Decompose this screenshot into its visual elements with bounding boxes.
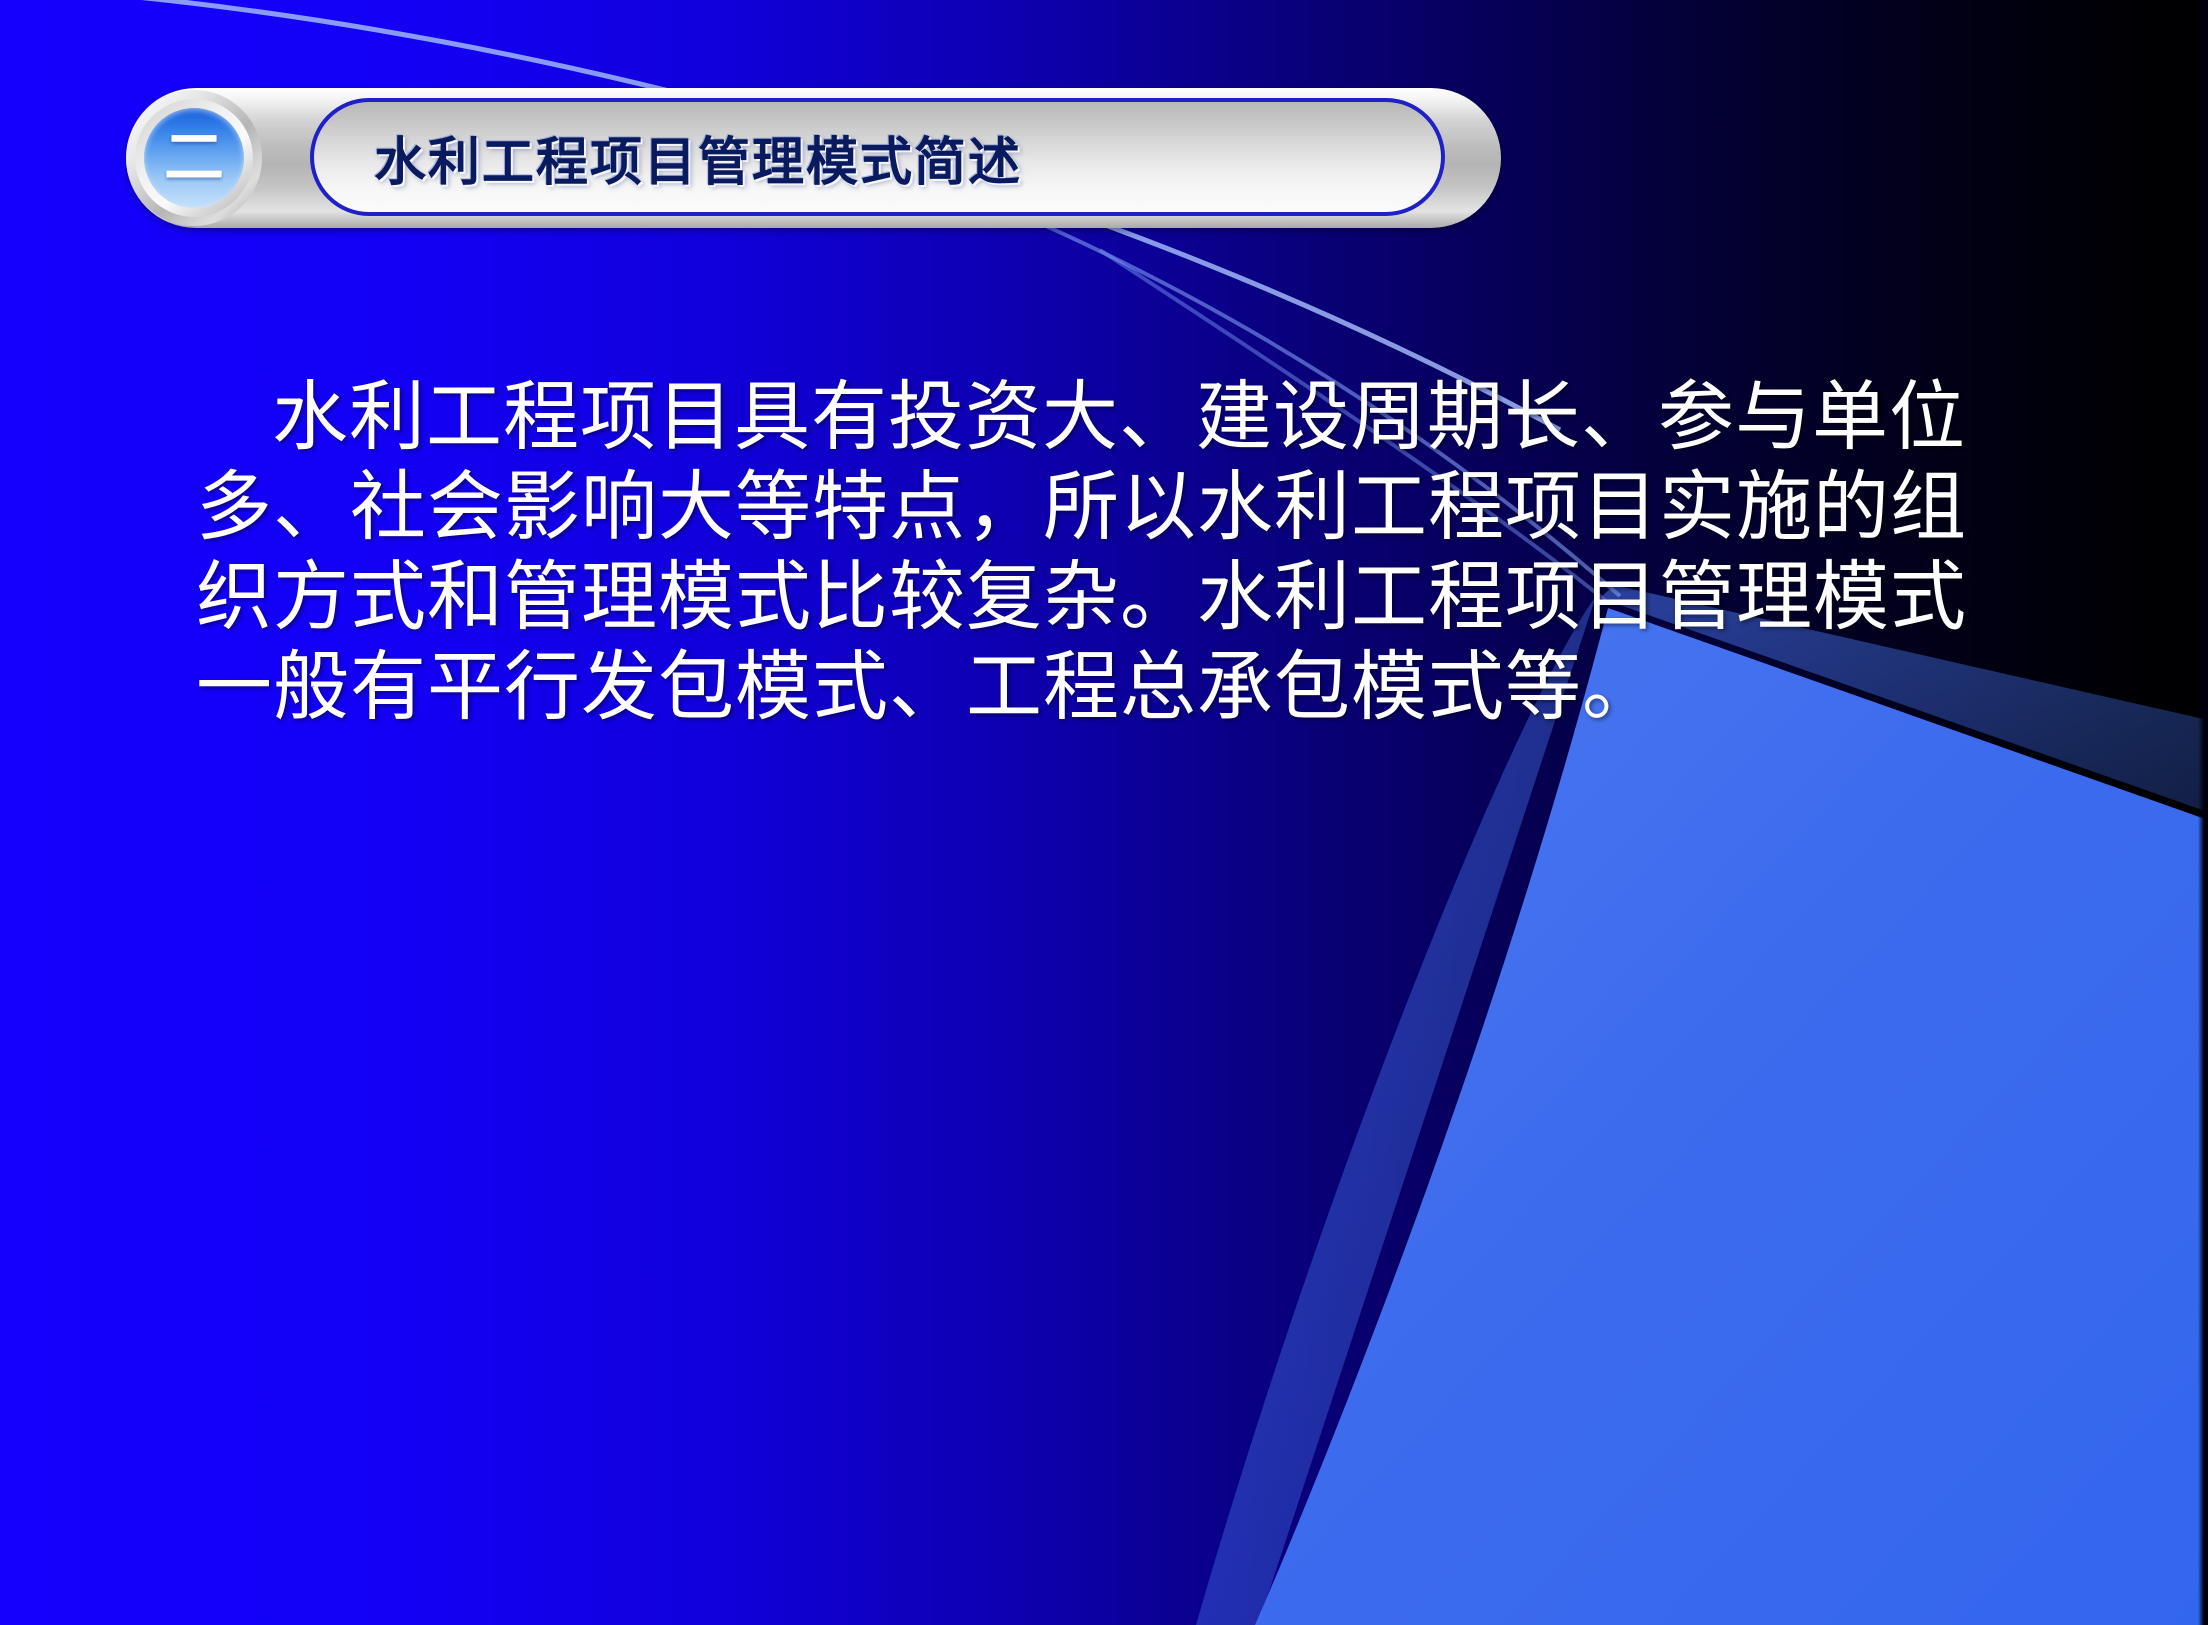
section-number-badge: 二 bbox=[126, 90, 262, 226]
title-banner: 水利工程项目管理模式简述 二 bbox=[126, 88, 1501, 228]
page-title: 水利工程项目管理模式简述 bbox=[374, 120, 1022, 195]
badge-face: 二 bbox=[144, 108, 244, 208]
body-line: 水利工程项目具有投资大、建设周期长、参与单位 bbox=[196, 372, 2086, 462]
presentation-slide: 水利工程项目管理模式简述 二 水利工程项目具有投资大、建设周期长、参与单位 多、… bbox=[0, 0, 2208, 1625]
body-line: 多、社会影响大等特点，所以水利工程项目实施的组 bbox=[196, 462, 2086, 552]
body-line: 织方式和管理模式比较复杂。水利工程项目管理模式 bbox=[196, 552, 2086, 642]
body-paragraph: 水利工程项目具有投资大、建设周期长、参与单位 多、社会影响大等特点，所以水利工程… bbox=[196, 372, 2086, 732]
banner-inner-plate: 水利工程项目管理模式简述 bbox=[310, 98, 1445, 216]
background-arc-lines bbox=[0, 0, 2208, 1625]
body-line: 一般有平行发包模式、工程总承包模式等。 bbox=[196, 642, 2086, 732]
badge-numeral-label: 二 bbox=[164, 128, 224, 188]
right-edge-shadow bbox=[2198, 0, 2208, 1625]
